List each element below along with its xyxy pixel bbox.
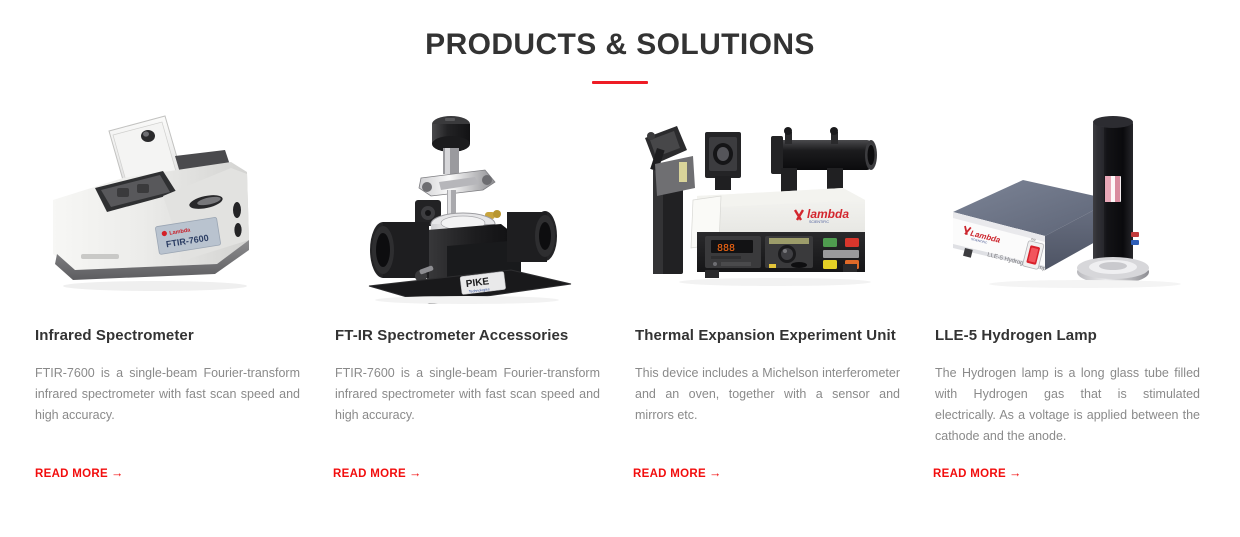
thermal-expansion-unit-photo[interactable]: lambda SCIENTIFIC 888 xyxy=(635,104,900,304)
read-more-label: READ MORE xyxy=(933,468,1006,480)
product-title: LLE-5 Hydrogen Lamp xyxy=(935,326,1200,345)
hydrogen-lamp-photo[interactable]: Lambda SCIENTIFIC LLE-5 Hydrogen Lamp ON xyxy=(935,104,1200,304)
title-divider xyxy=(592,81,648,84)
svg-text:888: 888 xyxy=(717,243,735,254)
product-title: Thermal Expansion Experiment Unit xyxy=(635,326,900,345)
infrared-spectrometer-photo[interactable]: Lambda FTIR-7600 xyxy=(35,104,300,304)
product-title: Infrared Spectrometer xyxy=(35,326,300,345)
ftir-accessory-photo[interactable]: PIKE Technologies xyxy=(335,104,600,304)
arrow-right-icon: → xyxy=(406,466,422,480)
section-header: PRODUCTS & SOLUTIONS xyxy=(0,0,1240,84)
product-card[interactable]: PIKE Technologies FT-IR Spectrometer Acc… xyxy=(335,104,600,447)
arrow-right-icon: → xyxy=(1006,466,1022,480)
product-title: FT-IR Spectrometer Accessories xyxy=(335,326,600,345)
product-grid: Lambda FTIR-7600 Infrared Spectrometer F… xyxy=(35,104,1211,447)
read-more-label: READ MORE xyxy=(35,468,108,480)
page-title: PRODUCTS & SOLUTIONS xyxy=(0,28,1240,62)
arrow-right-icon: → xyxy=(706,466,722,480)
product-description: FTIR-7600 is a single-beam Fourier-trans… xyxy=(335,363,600,426)
read-more-link[interactable]: READ MORE→ xyxy=(633,466,722,480)
product-card[interactable]: Lambda SCIENTIFIC LLE-5 Hydrogen Lamp ON xyxy=(935,104,1200,447)
product-card[interactable]: Lambda FTIR-7600 Infrared Spectrometer F… xyxy=(35,104,300,447)
read-more-label: READ MORE xyxy=(333,468,406,480)
read-more-link[interactable]: READ MORE→ xyxy=(333,466,422,480)
product-description: FTIR-7600 is a single-beam Fourier-trans… xyxy=(35,363,300,426)
svg-text:lambda: lambda xyxy=(807,207,849,221)
product-description: This device includes a Michelson interfe… xyxy=(635,363,900,426)
product-description: The Hydrogen lamp is a long glass tube f… xyxy=(935,363,1200,447)
read-more-link[interactable]: READ MORE→ xyxy=(933,466,1022,480)
products-solutions-section: PRODUCTS & SOLUTIONS xyxy=(0,0,1240,537)
svg-text:SCIENTIFIC: SCIENTIFIC xyxy=(809,220,829,224)
arrow-right-icon: → xyxy=(108,466,124,480)
read-more-label: READ MORE xyxy=(633,468,706,480)
product-card[interactable]: lambda SCIENTIFIC 888 xyxy=(635,104,900,447)
read-more-link[interactable]: READ MORE→ xyxy=(35,466,124,480)
